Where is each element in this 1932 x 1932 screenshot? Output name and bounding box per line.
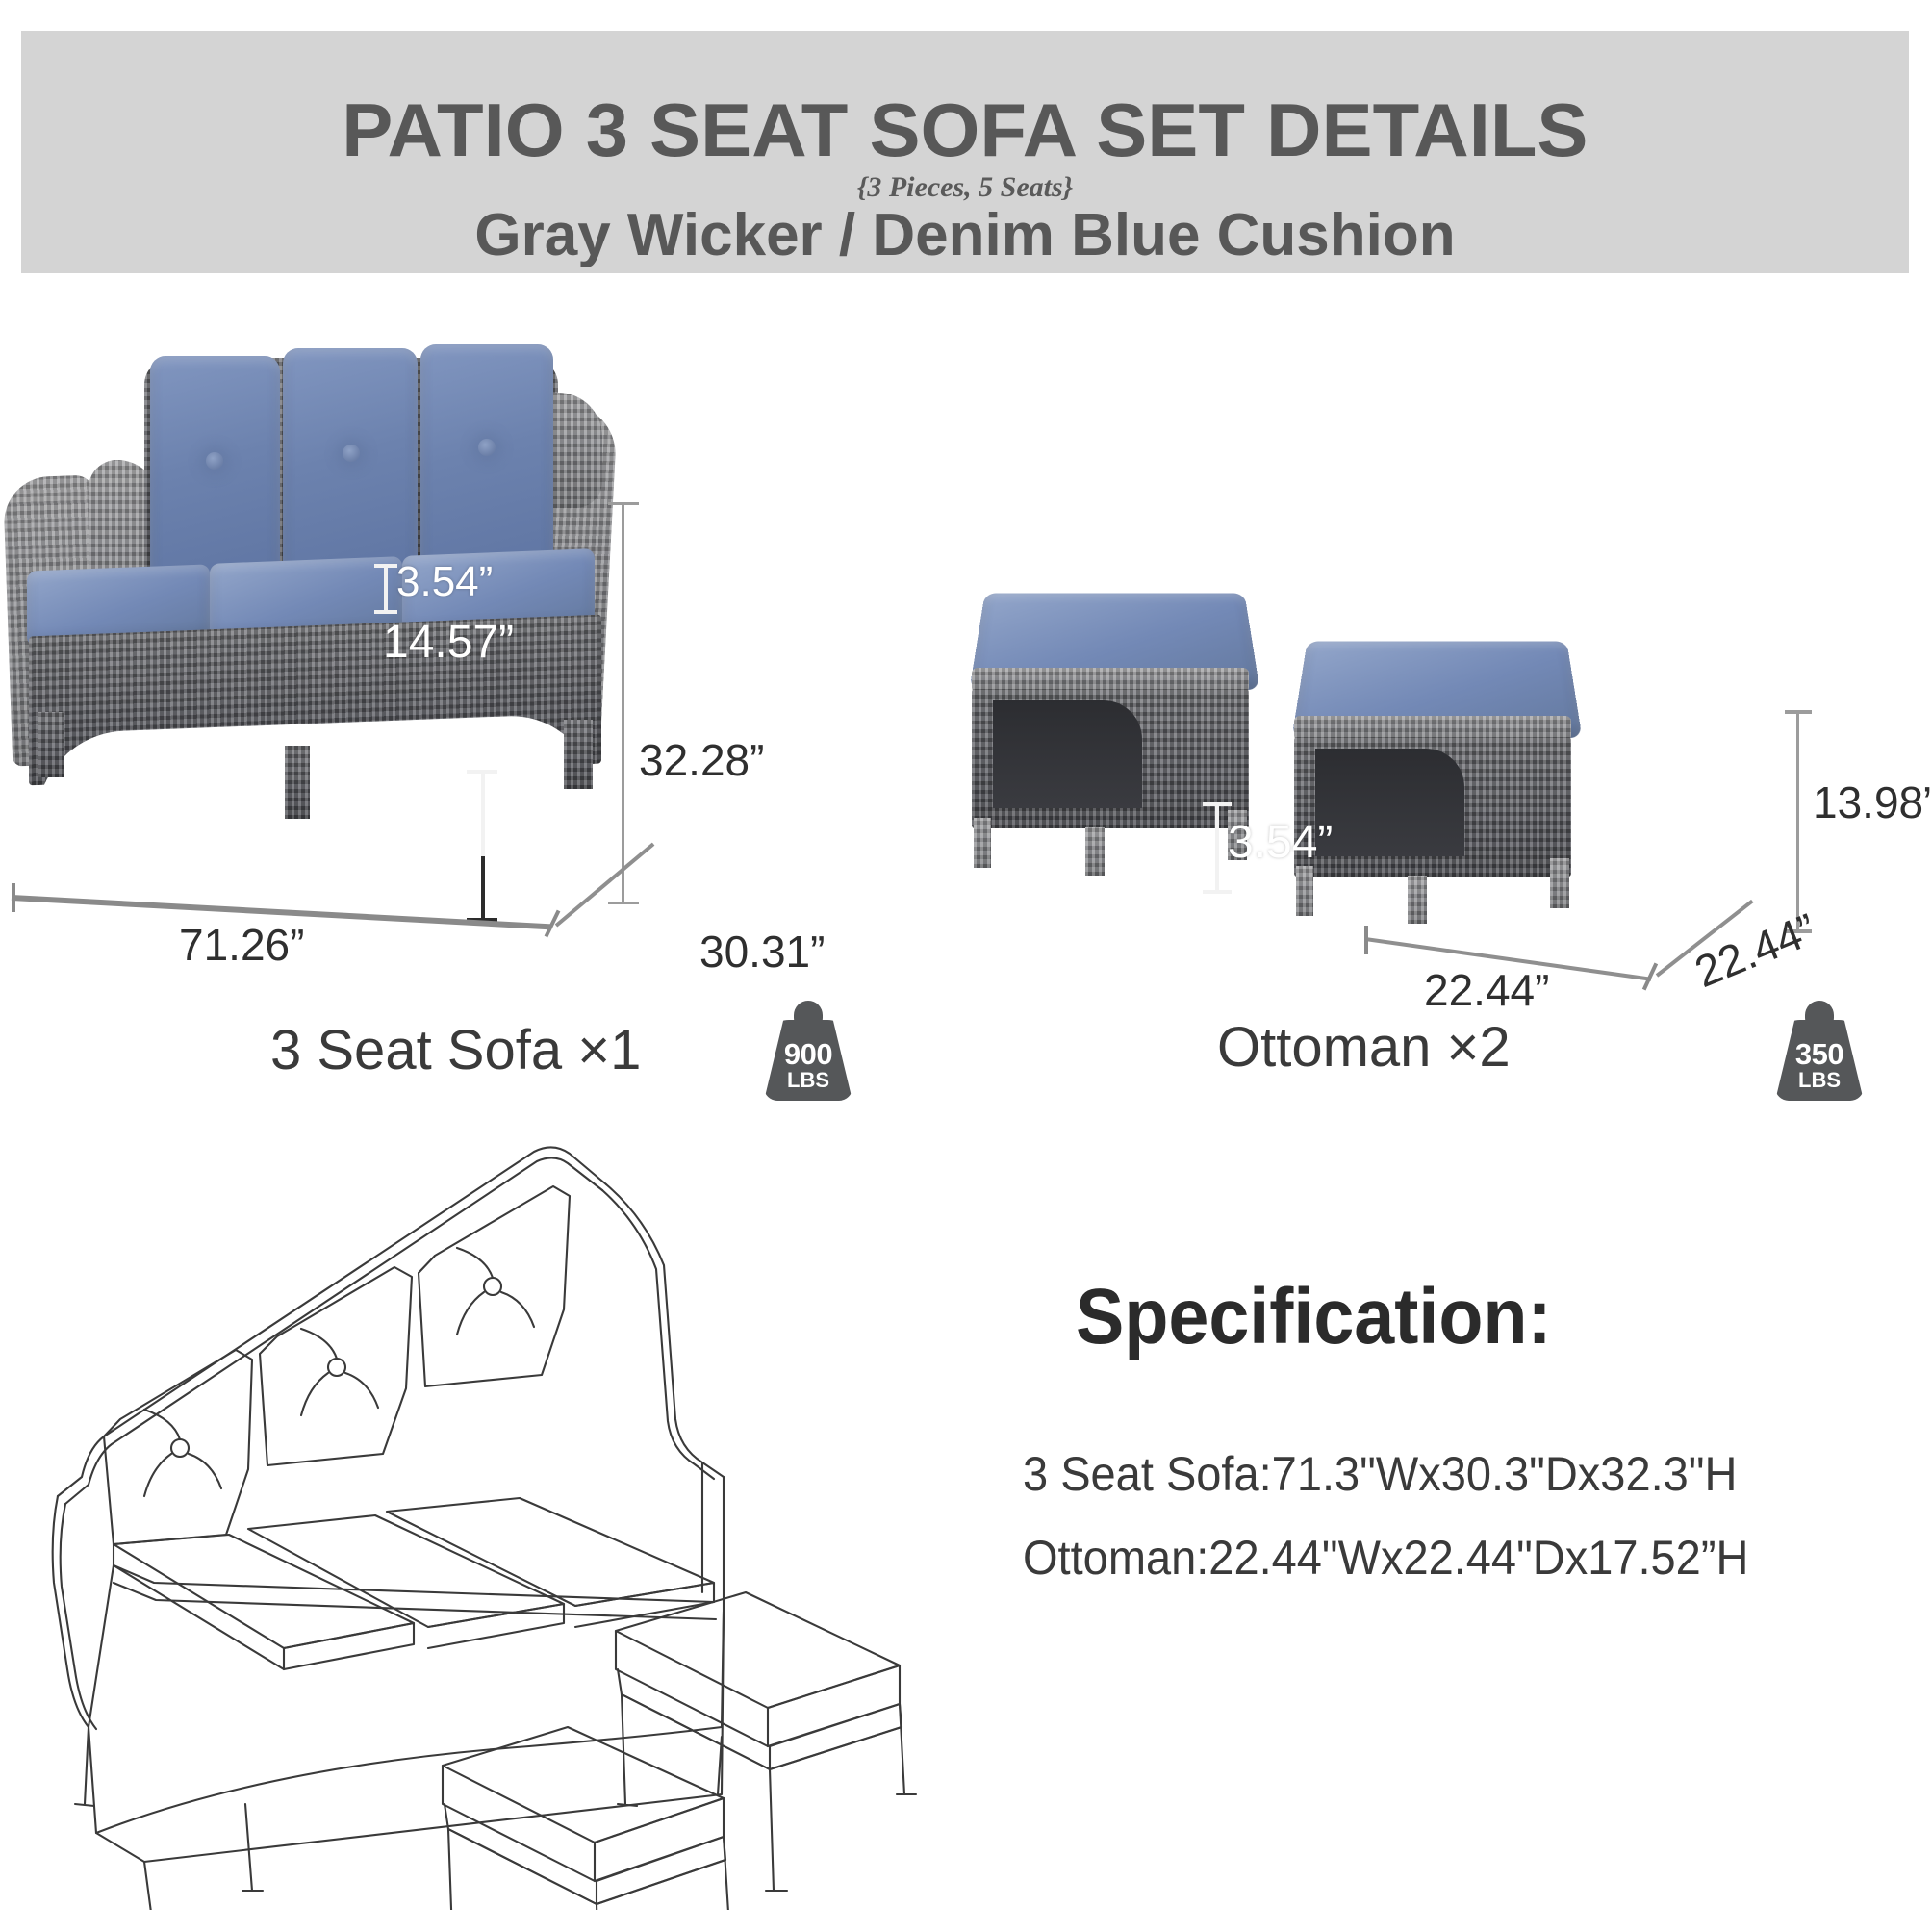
ottoman-2-cavity (1315, 749, 1464, 856)
ottoman-2-photo (1294, 635, 1592, 914)
sofa-seat-height-cap-top (467, 770, 497, 774)
ottoman-cushion-cap-top (1203, 802, 1232, 806)
sofa-cushion-cap-bottom (374, 610, 397, 614)
sofa-width-label: 71.26” (179, 919, 304, 971)
sofa-overall-height-label: 32.28” (639, 734, 764, 786)
page-subtitle: {3 Pieces, 5 Seats} (857, 173, 1073, 202)
sofa-leg-left (38, 712, 64, 777)
sofa-set-line-drawing (29, 1131, 972, 1910)
sofa-overall-height-rule (622, 502, 624, 904)
specification-heading: Specification: (1076, 1272, 1552, 1362)
sofa-cushion-thickness-label: 3.54” (396, 558, 493, 606)
sofa-weight-unit: LBS (764, 1068, 852, 1093)
ottoman-height-rule (1796, 710, 1799, 933)
ottoman-1-leg-mid (1085, 827, 1105, 876)
specification-line-sofa: 3 Seat Sofa:71.3"Wx30.3"Dx32.3"H (1023, 1446, 1737, 1502)
ottoman-weight-badge: 350 LBS (1775, 1001, 1864, 1101)
page-title: PATIO 3 SEAT SOFA SET DETAILS (342, 92, 1588, 167)
ottoman-cushion-thickness-label: 3.54” (1228, 816, 1333, 869)
sofa-back-cushion-1 (150, 356, 280, 595)
ottoman-1-photo (972, 587, 1270, 866)
specification-line-ottoman: Ottoman:22.44"Wx22.44"Dx17.52”H (1023, 1530, 1748, 1586)
sofa-weight-value: 900 (764, 1037, 852, 1072)
sofa-leg-mid (285, 746, 310, 819)
header-banner: PATIO 3 SEAT SOFA SET DETAILS {3 Pieces,… (21, 31, 1909, 273)
ottoman-width-label: 22.44” (1424, 964, 1549, 1016)
sofa-leg-right (564, 720, 593, 789)
ottoman-weight-unit: LBS (1775, 1068, 1864, 1093)
ottoman-height-label: 13.98” (1813, 776, 1932, 828)
ottoman-height-cap-top (1785, 710, 1812, 714)
sofa-seat-height-rule (481, 770, 485, 856)
sofa-depth-label: 30.31” (699, 926, 825, 978)
sofa-overall-height-cap-top (608, 502, 639, 505)
infographic-page: PATIO 3 SEAT SOFA SET DETAILS {3 Pieces,… (0, 0, 1932, 1932)
ottoman-item-label: Ottoman ×2 (1217, 1015, 1511, 1080)
ottoman-2-leg-mid (1408, 876, 1427, 924)
material-line: Gray Wicker / Denim Blue Cushion (474, 204, 1455, 267)
sofa-back-cushion-2 (283, 348, 418, 591)
ottoman-2-leg-right (1550, 858, 1569, 908)
ottoman-depth-label: 22.44” (1688, 902, 1823, 998)
ottoman-weight-value: 350 (1775, 1037, 1864, 1072)
sofa-item-label: 3 Seat Sofa ×1 (270, 1018, 641, 1082)
ottoman-cushion-cap-bottom (1203, 890, 1232, 894)
sofa-cushion-cap-top (374, 564, 397, 568)
sofa-width-tick-left (12, 883, 15, 912)
sofa-weight-badge: 900 LBS (764, 1001, 852, 1101)
sofa-photo (0, 385, 674, 943)
ottoman-1-leg-left (974, 818, 991, 868)
sofa-seat-height-label: 14.57” (383, 616, 514, 669)
ottoman-cushion-rule (1215, 802, 1219, 894)
sofa-overall-height-cap-bottom (608, 902, 639, 904)
sofa-back-cushion-3 (420, 344, 553, 585)
sofa-seat-height-rule-lower (481, 856, 485, 922)
ottoman-1-cavity (993, 700, 1142, 808)
ottoman-2-leg-left (1296, 866, 1313, 916)
ottoman-width-tick-left (1364, 926, 1368, 954)
sofa-cushion-rule (384, 564, 388, 614)
